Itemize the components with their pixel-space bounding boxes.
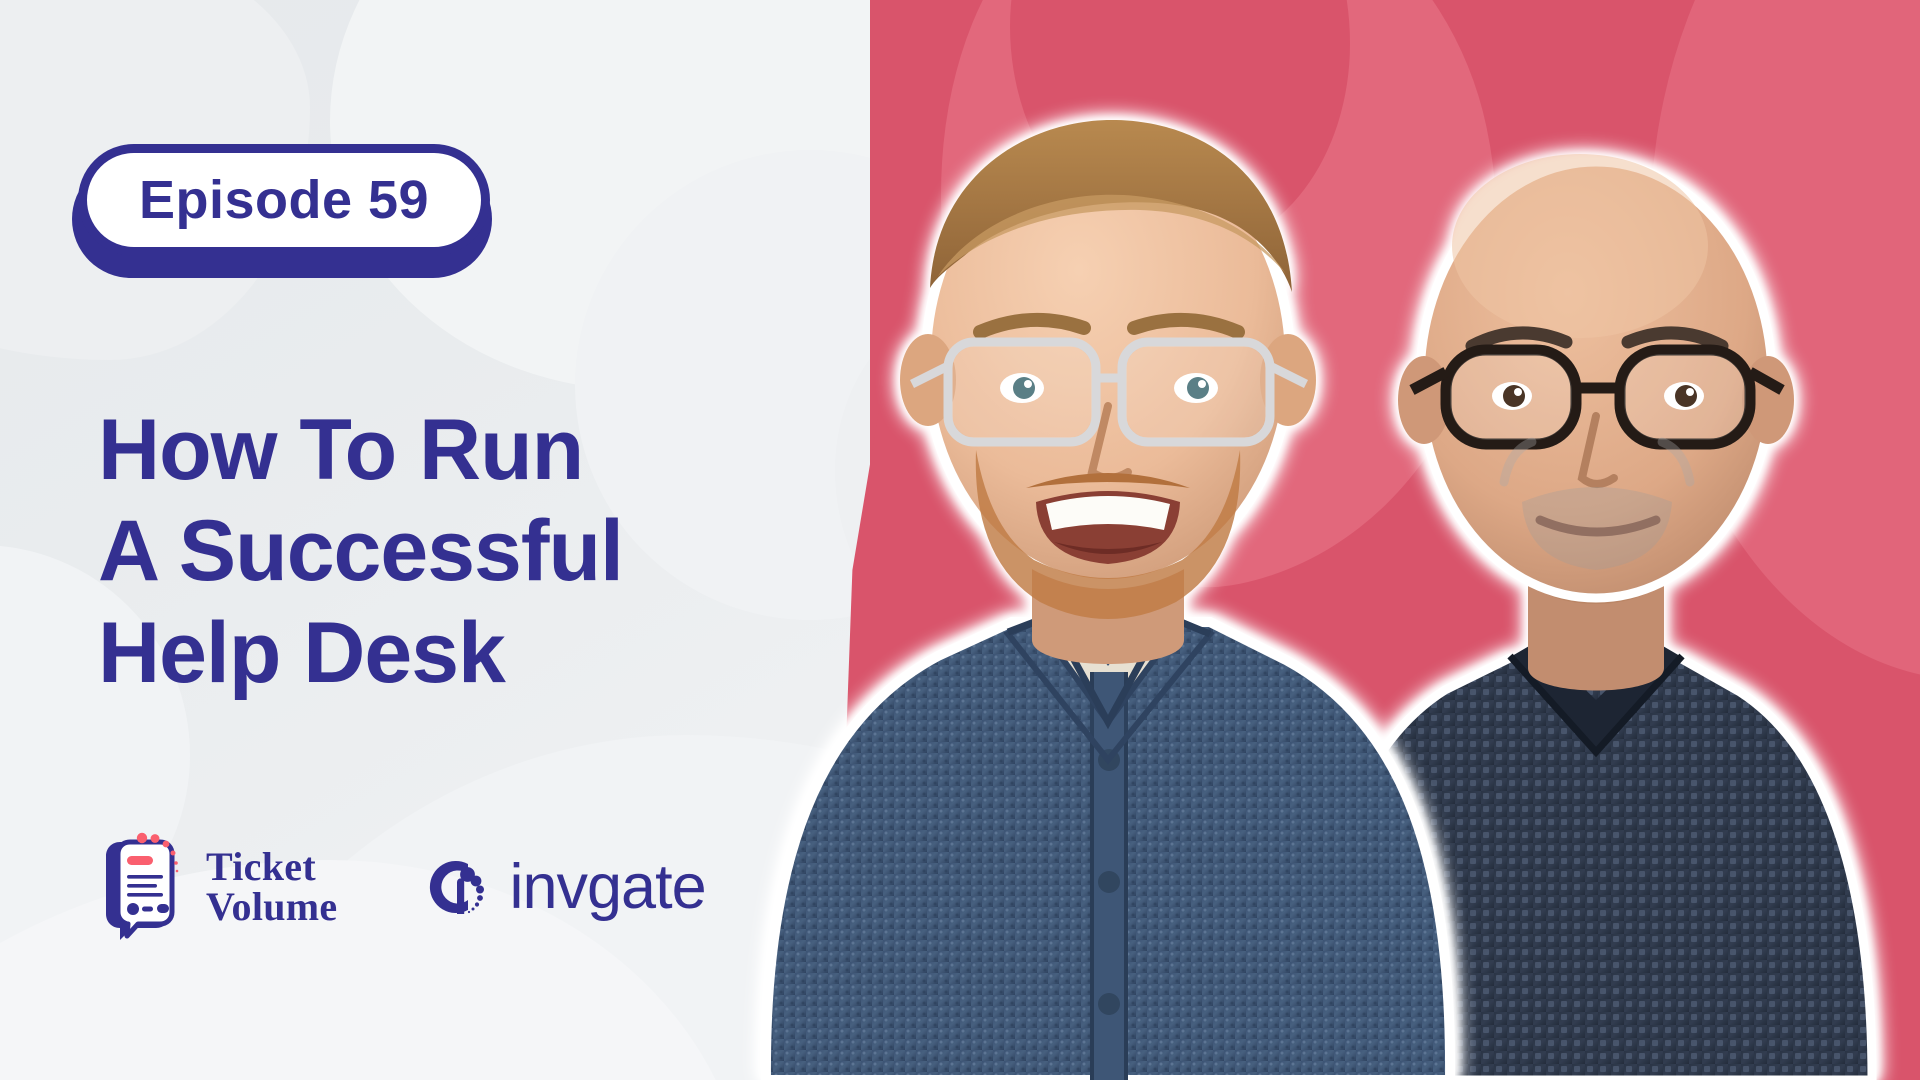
- ticket-volume-word-line-2: Volume: [206, 887, 337, 927]
- episode-badge-label: Episode 59: [139, 173, 429, 227]
- ticket-volume-wordmark: Ticket Volume: [206, 847, 337, 927]
- invgate-wordmark: invgate: [509, 856, 705, 919]
- episode-title-line-2: A Successful: [98, 501, 878, 602]
- episode-title: How To Run A Successful Help Desk: [98, 400, 878, 704]
- logo-row: Ticket Volume: [98, 832, 706, 942]
- ticket-volume-word-line-1: Ticket: [206, 847, 337, 887]
- invgate-logomark-icon: [423, 854, 489, 920]
- episode-badge-pill[interactable]: Episode 59: [78, 144, 490, 256]
- episode-badge[interactable]: Episode 59: [78, 144, 490, 256]
- episode-title-line-3: Help Desk: [98, 603, 878, 704]
- invgate-logo[interactable]: invgate: [423, 854, 705, 920]
- episode-cover: Episode 59 How To Run A Successful Help …: [0, 0, 1920, 1080]
- ticket-volume-logo[interactable]: Ticket Volume: [98, 832, 337, 942]
- guest-photos: [720, 0, 1920, 1080]
- episode-title-line-1: How To Run: [98, 400, 878, 501]
- ticket-volume-icon: [98, 832, 190, 942]
